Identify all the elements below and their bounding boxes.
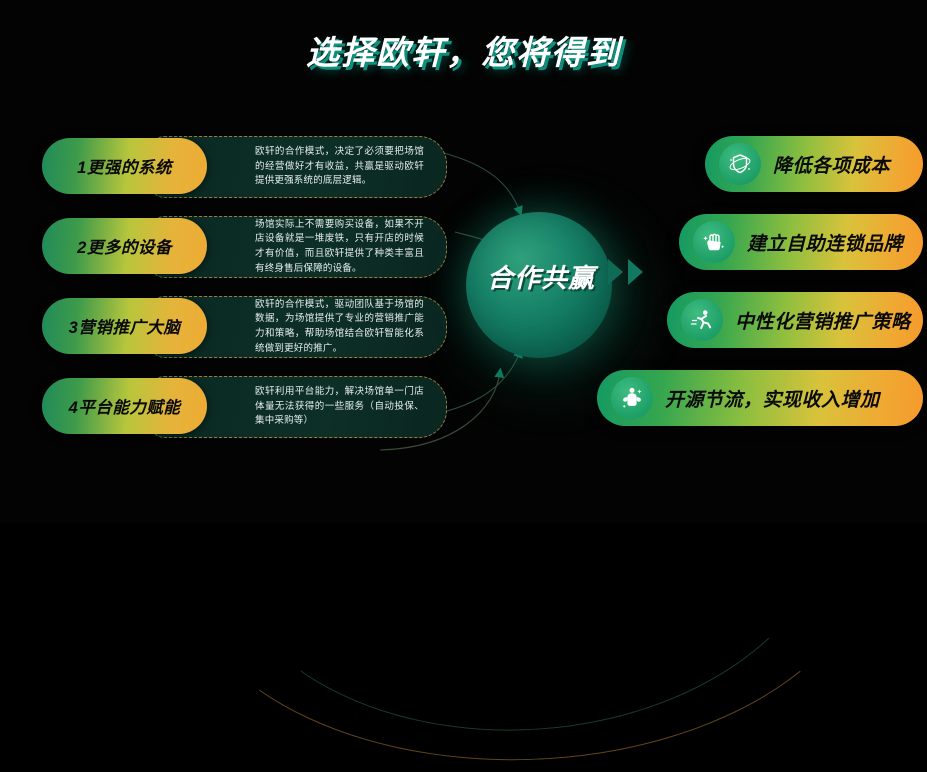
left-item-pill-4[interactable]: 4平台能力赋能	[42, 378, 207, 434]
left-item-desc-3: 欧轩的合作模式，驱动团队基于场馆的数据，为场馆提供了专业的营销推广能力和策略，帮…	[255, 298, 424, 357]
left-item-desc-4: 欧轩利用平台能力，解决场馆单一门店体量无法获得的一些服务（自动投保、集中采购等）	[255, 385, 424, 429]
left-item-pill-2[interactable]: 2更多的设备	[42, 218, 207, 274]
left-item-pill-3[interactable]: 3营销推广大脑	[42, 298, 207, 354]
right-item-4[interactable]: 开源节流，实现收入增加	[597, 370, 923, 426]
left-item-label-4: 4平台能力赋能	[69, 394, 181, 418]
left-item-label-3: 3营销推广大脑	[69, 314, 181, 338]
right-item-label-1: 降低各项成本	[773, 151, 890, 178]
left-item-2[interactable]: 场馆实际上不需要购买设备，如果不开店设备就是一堆废铁，只有开店的时候才有价值，而…	[42, 216, 447, 278]
flexing-muscle-icon	[611, 377, 653, 419]
arrow-item1	[440, 152, 520, 212]
right-item-label-2: 建立自助连锁品牌	[747, 229, 903, 256]
right-item-2[interactable]: 建立自助连锁品牌	[679, 214, 923, 270]
shield-orbit-icon	[719, 143, 761, 185]
left-item-desc-1: 欧轩的合作模式，决定了必须要把场馆的经营做好才有收益，共赢是驱动欧轩提供更强系统…	[255, 145, 424, 189]
raised-fist-icon	[693, 221, 735, 263]
right-item-1[interactable]: 降低各项成本	[705, 136, 923, 192]
slide-root: { "title": "选择欧轩，您将得到", "center": { "lab…	[0, 0, 927, 523]
left-item-label-1: 1更强的系统	[77, 154, 172, 178]
page-title: 选择欧轩，您将得到	[0, 26, 927, 74]
left-item-4[interactable]: 欧轩利用平台能力，解决场馆单一门店体量无法获得的一些服务（自动投保、集中采购等）…	[42, 376, 447, 438]
right-outcome-list: 降低各项成本 建立自助连锁品牌 中性化营销推广策略	[597, 136, 923, 448]
left-item-3[interactable]: 欧轩的合作模式，驱动团队基于场馆的数据，为场馆提供了专业的营销推广能力和策略，帮…	[42, 296, 447, 358]
left-item-pill-1[interactable]: 1更强的系统	[42, 138, 207, 194]
right-item-label-3: 中性化营销推广策略	[735, 307, 911, 334]
running-person-icon	[681, 299, 723, 341]
left-item-1[interactable]: 欧轩的合作模式，决定了必须要把场馆的经营做好才有收益，共赢是驱动欧轩提供更强系统…	[42, 136, 447, 198]
left-benefit-list: 欧轩的合作模式，决定了必须要把场馆的经营做好才有收益，共赢是驱动欧轩提供更强系统…	[42, 136, 447, 456]
right-item-3[interactable]: 中性化营销推广策略	[667, 292, 923, 348]
right-item-label-4: 开源节流，实现收入增加	[665, 385, 880, 412]
left-item-desc-2: 场馆实际上不需要购买设备，如果不开店设备就是一堆废铁，只有开店的时候才有价值，而…	[255, 218, 424, 277]
left-item-label-2: 2更多的设备	[77, 234, 172, 258]
